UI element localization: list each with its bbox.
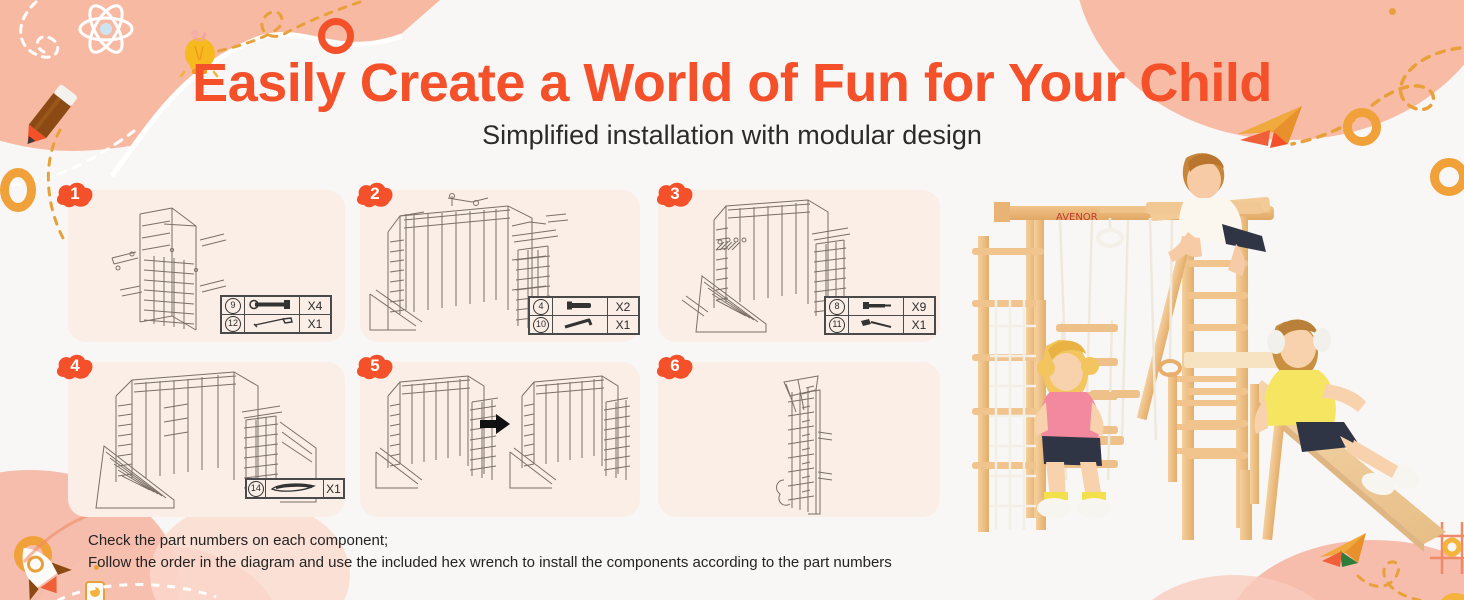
part-qty: X1: [300, 315, 331, 333]
left-wall-ladder: [972, 210, 1046, 532]
rope-icon: [265, 480, 323, 498]
part-number: 11: [829, 317, 845, 333]
part-row: 10 X1: [530, 316, 639, 334]
part-row: 9 X4: [222, 297, 331, 315]
part-row: 12 X1: [222, 315, 331, 333]
screw-icon: [849, 298, 904, 316]
product-photo: AVENOR: [950, 140, 1464, 570]
step-number: 2: [355, 181, 395, 209]
step-3-parts-table: 8 X9 11: [824, 296, 936, 335]
step-card-2: 4 X2 10: [360, 190, 640, 342]
part-number: 4: [533, 299, 549, 315]
part-row: 8 X9: [826, 298, 935, 316]
part-row: 11 X1: [826, 316, 935, 334]
decor-dot-orange-top: [1389, 8, 1396, 15]
part-qty: X2: [608, 298, 639, 316]
part-qty: X1: [904, 316, 935, 334]
decor-ring-yellow-bottom-right: [1438, 593, 1464, 600]
step-4-parts-table: 14 X1: [245, 478, 345, 499]
decor-ring-orange-left: [0, 168, 36, 212]
step-number: 6: [655, 353, 695, 381]
instruction-note: Check the part numbers on each component…: [88, 530, 892, 574]
atom-icon: [78, 3, 134, 55]
step-2-parts-table: 4 X2 10: [528, 296, 640, 335]
screwdriver-icon: [849, 316, 904, 334]
decor-blob-bottom-right-2: [1124, 575, 1344, 600]
step-6-diagram: [658, 362, 940, 517]
part-number: 10: [533, 317, 549, 333]
hex-key-icon: [553, 316, 608, 334]
part-qty: X9: [904, 298, 935, 316]
part-qty: X1: [608, 316, 639, 334]
decor-ring-orange-bottom-left: [14, 536, 52, 574]
step-5-diagram: [360, 362, 640, 517]
part-number: 12: [225, 316, 241, 332]
step-card-1: 9 X4 12: [68, 190, 345, 342]
part-qty: X4: [300, 297, 331, 315]
step-badge-3: 3: [655, 181, 695, 209]
step-number: 3: [655, 181, 695, 209]
step-badge-2: 2: [355, 181, 395, 209]
wrench-icon: [245, 315, 300, 333]
page-title: Easily Create a World of Fun for Your Ch…: [0, 52, 1464, 114]
step-badge-4: 4: [55, 353, 95, 381]
step-badge-5: 5: [355, 353, 395, 381]
step-number: 4: [55, 353, 95, 381]
step-1-parts-table: 9 X4 12: [220, 295, 332, 334]
step-card-5: [360, 362, 640, 517]
part-number: 9: [225, 298, 241, 314]
part-number: 14: [248, 481, 264, 497]
promo-banner: Easily Create a World of Fun for Your Ch…: [0, 0, 1464, 600]
part-qty: X1: [323, 480, 343, 498]
decor-ring-red-top: [318, 18, 354, 54]
step-card-4: 14 X1: [68, 362, 345, 517]
step-badge-6: 6: [655, 353, 695, 381]
step-number: 1: [55, 181, 95, 209]
step-number: 5: [355, 353, 395, 381]
decor-cup-icon: [78, 578, 112, 600]
part-row: 14 X1: [247, 480, 344, 498]
decor-dashed-arc-bottom-left: [40, 575, 220, 600]
part-row: 4 X2: [530, 298, 639, 316]
step-card-3: 8 X9 11: [658, 190, 940, 342]
part-number: 8: [829, 299, 845, 315]
bolt-icon: [245, 297, 300, 315]
short-bolt-icon: [553, 298, 608, 316]
rocket-icon: [6, 540, 76, 600]
step-card-6: [658, 362, 940, 517]
step-badge-1: 1: [55, 181, 95, 209]
